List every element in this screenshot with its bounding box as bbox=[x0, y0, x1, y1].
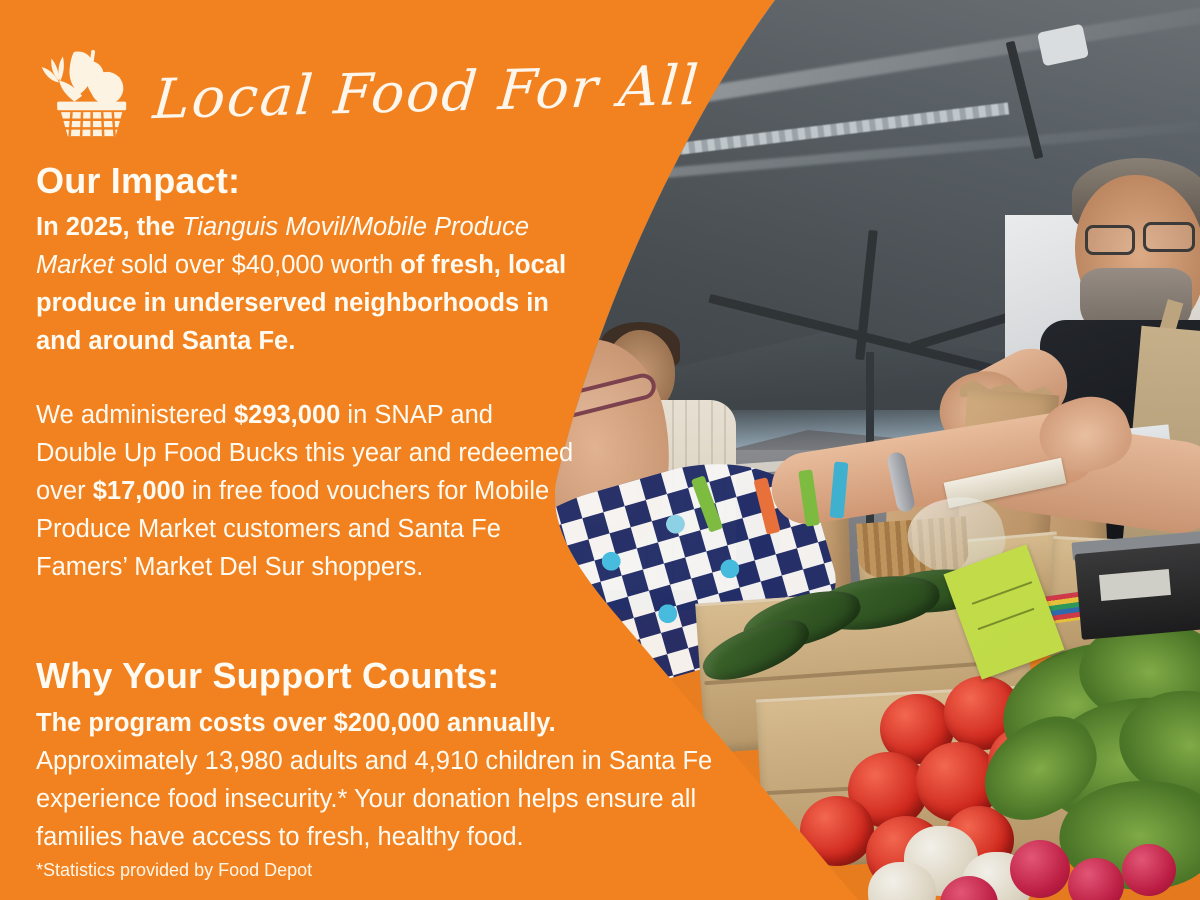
p1-run-bold-intro: In 2025, the bbox=[36, 213, 182, 241]
paragraph-impact-snap: We administered $293,000 in SNAP and Dou… bbox=[36, 396, 576, 586]
brand-lockup: Local Food For All bbox=[36, 46, 699, 138]
paragraph-support-stats: The program costs over $200,000 annually… bbox=[36, 704, 751, 856]
heading-why-support: Why Your Support Counts: bbox=[36, 655, 499, 697]
p2-amount-vouchers: $17,000 bbox=[93, 477, 185, 505]
p3-adults: 13,980 bbox=[205, 747, 283, 775]
content-column: Local Food For All Our Impact: In 2025, … bbox=[0, 0, 770, 900]
brand-name: Local Food For All bbox=[151, 57, 702, 126]
p3-cost-line: The program costs over $200,000 annually… bbox=[36, 709, 556, 737]
paragraph-impact-sales: In 2025, the Tianguis Movil/Mobile Produ… bbox=[36, 208, 584, 360]
produce-basket-icon bbox=[36, 46, 132, 138]
photo-vendor-glasses bbox=[1085, 225, 1135, 255]
photo-tomato bbox=[800, 796, 874, 866]
photo-radish bbox=[1010, 840, 1070, 898]
p3-run-2: adults and bbox=[283, 747, 415, 775]
photo-radish bbox=[1122, 844, 1176, 896]
photo-vendor-glasses bbox=[1143, 222, 1195, 252]
p3-run-1: Approximately bbox=[36, 747, 205, 775]
heading-our-impact: Our Impact: bbox=[36, 160, 240, 202]
p2-amount-snap: $293,000 bbox=[234, 401, 340, 429]
poster-canvas: Local Food For All Our Impact: In 2025, … bbox=[0, 0, 1200, 900]
p3-children: 4,910 bbox=[415, 747, 479, 775]
p1-run-regular-amount: sold over $40,000 worth bbox=[114, 251, 400, 279]
footnote-statistics-source: *Statistics provided by Food Depot bbox=[36, 860, 312, 881]
p2-run-1: We administered bbox=[36, 401, 234, 429]
